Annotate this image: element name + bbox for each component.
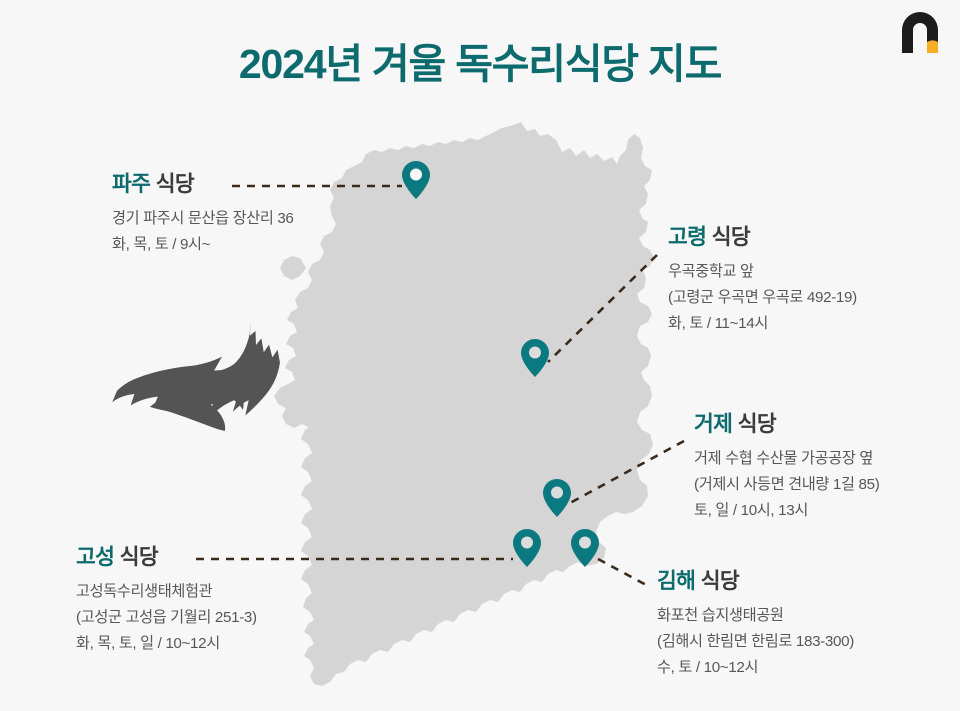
restaurant-heading-goryeong: 고령 식당 <box>668 224 857 251</box>
restaurant-details-gimhae: 화포천 습지생태공원 (김해시 한림면 한림로 183-300) 수, 토 / … <box>657 603 854 681</box>
restaurant-info-geoje: 거제 식당 거제 수협 수산물 가공공장 옆 (거제시 사등면 견내량 1길 8… <box>694 411 879 524</box>
restaurant-suffix-paju: 식당 <box>156 172 194 196</box>
restaurant-hours-geoje: 토, 일 / 10시, 13시 <box>694 498 879 524</box>
restaurant-heading-goseong: 고성 식당 <box>76 544 257 571</box>
restaurant-suffix-gimhae: 식당 <box>701 569 739 593</box>
restaurant-place-gimhae: 화포천 습지생태공원 <box>657 603 854 629</box>
map-pin-geoje[interactable] <box>542 478 572 518</box>
restaurant-address-paju: 경기 파주시 문산읍 장산리 36 <box>112 206 294 232</box>
map-pin-gimhae[interactable] <box>570 528 600 568</box>
restaurant-city-goryeong: 고령 <box>668 225 706 249</box>
restaurant-details-goryeong: 우곡중학교 앞 (고령군 우곡면 우곡로 492-19) 화, 토 / 11~1… <box>668 259 857 337</box>
restaurant-heading-geoje: 거제 식당 <box>694 411 879 438</box>
restaurant-info-goryeong: 고령 식당 우곡중학교 앞 (고령군 우곡면 우곡로 492-19) 화, 토 … <box>668 224 857 337</box>
restaurant-hours-gimhae: 수, 토 / 10~12시 <box>657 655 854 681</box>
restaurant-details-goseong: 고성독수리생태체험관 (고성군 고성읍 기월리 251-3) 화, 목, 토, … <box>76 579 257 657</box>
restaurant-hours-goryeong: 화, 토 / 11~14시 <box>668 311 857 337</box>
restaurant-place-goseong: 고성독수리생태체험관 <box>76 579 257 605</box>
restaurant-place-goryeong: 우곡중학교 앞 <box>668 259 857 285</box>
map-pin-goryeong[interactable] <box>520 338 550 378</box>
restaurant-details-paju: 경기 파주시 문산읍 장산리 36 화, 목, 토 / 9시~ <box>112 206 294 258</box>
restaurant-place-geoje: 거제 수협 수산물 가공공장 옆 <box>694 446 879 472</box>
restaurant-address-goryeong: (고령군 우곡면 우곡로 492-19) <box>668 285 857 311</box>
restaurant-info-goseong: 고성 식당 고성독수리생태체험관 (고성군 고성읍 기월리 251-3) 화, … <box>76 544 257 657</box>
restaurant-city-geoje: 거제 <box>694 412 732 436</box>
restaurant-city-gimhae: 김해 <box>657 569 695 593</box>
map-pin-goseong[interactable] <box>512 528 542 568</box>
restaurant-hours-paju: 화, 목, 토 / 9시~ <box>112 232 294 258</box>
restaurant-info-paju: 파주 식당 경기 파주시 문산읍 장산리 36 화, 목, 토 / 9시~ <box>112 171 294 258</box>
restaurant-suffix-goryeong: 식당 <box>712 225 750 249</box>
restaurant-heading-paju: 파주 식당 <box>112 171 294 198</box>
restaurant-hours-goseong: 화, 목, 토, 일 / 10~12시 <box>76 631 257 657</box>
restaurant-city-paju: 파주 <box>112 172 150 196</box>
map-pin-paju[interactable] <box>401 160 431 200</box>
restaurant-address-goseong: (고성군 고성읍 기월리 251-3) <box>76 605 257 631</box>
infographic-canvas: 2024년 겨울 독수리식당 지도 <box>0 0 960 711</box>
restaurant-address-gimhae: (김해시 한림면 한림로 183-300) <box>657 629 854 655</box>
restaurant-city-goseong: 고성 <box>76 545 114 569</box>
restaurant-suffix-goseong: 식당 <box>120 545 158 569</box>
restaurant-details-geoje: 거제 수협 수산물 가공공장 옆 (거제시 사등면 견내량 1길 85) 토, … <box>694 446 879 524</box>
restaurant-suffix-geoje: 식당 <box>738 412 776 436</box>
restaurant-address-geoje: (거제시 사등면 견내량 1길 85) <box>694 472 879 498</box>
restaurant-heading-gimhae: 김해 식당 <box>657 568 854 595</box>
restaurant-info-gimhae: 김해 식당 화포천 습지생태공원 (김해시 한림면 한림로 183-300) 수… <box>657 568 854 681</box>
